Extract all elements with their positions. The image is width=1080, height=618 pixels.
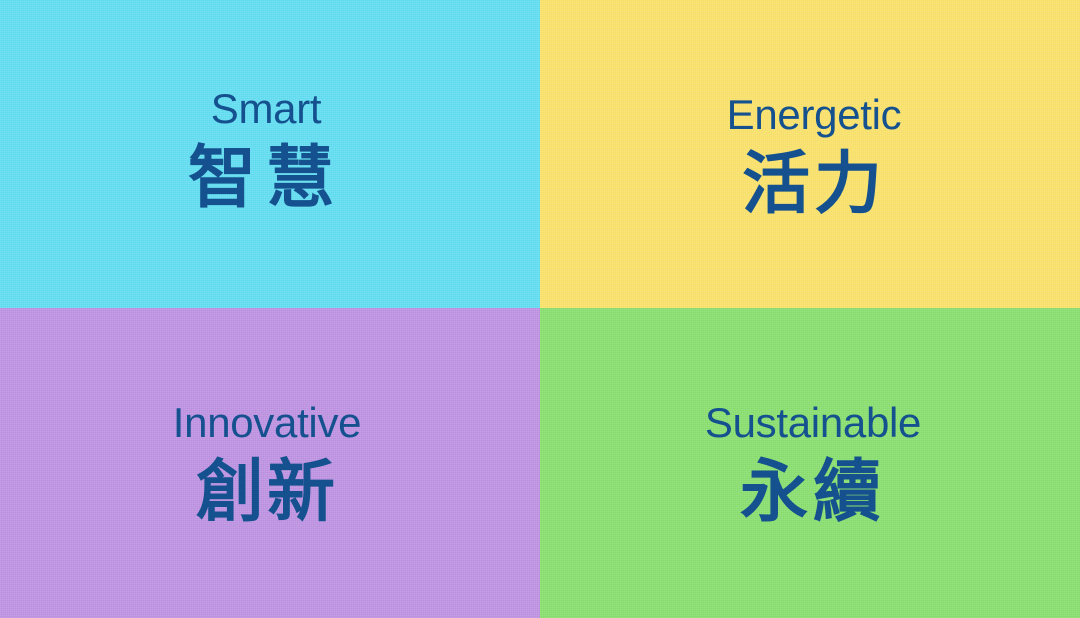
panel-text-sustainable: Sustainable 永續	[705, 402, 921, 527]
value-label-en-innovative: Innovative	[173, 402, 361, 444]
value-label-en-smart: Smart	[188, 88, 344, 130]
value-panel-smart[interactable]: Smart 智慧	[0, 0, 540, 308]
value-label-zh-smart: 智慧	[188, 144, 344, 213]
panel-text-smart: Smart 智慧	[188, 88, 344, 213]
value-label-zh-sustainable: 永續	[705, 458, 921, 527]
value-label-zh-energetic: 活力	[727, 150, 902, 219]
value-label-zh-innovative: 創新	[173, 458, 361, 527]
panel-text-energetic: Energetic 活力	[727, 94, 902, 219]
values-grid: Smart 智慧 Energetic 活力 Innovative 創新 Sust…	[0, 0, 1080, 618]
value-label-en-sustainable: Sustainable	[705, 402, 921, 444]
value-panel-innovative[interactable]: Innovative 創新	[0, 308, 540, 618]
value-panel-energetic[interactable]: Energetic 活力	[540, 0, 1080, 308]
value-panel-sustainable[interactable]: Sustainable 永續	[540, 308, 1080, 618]
panel-text-innovative: Innovative 創新	[173, 402, 361, 527]
value-label-en-energetic: Energetic	[727, 94, 902, 136]
